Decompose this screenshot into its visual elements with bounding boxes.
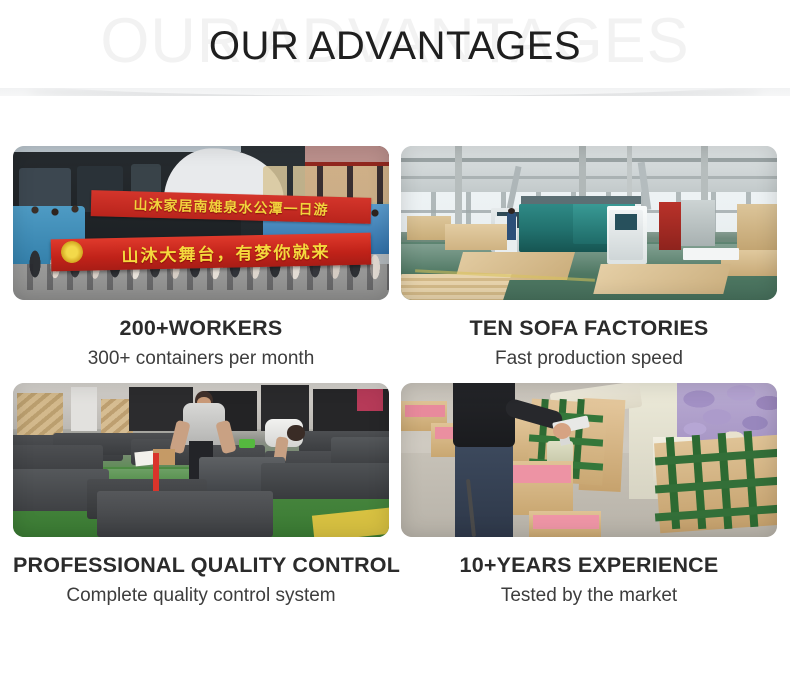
banner-top-text: 山沐家居南雄泉水公潭一日游	[133, 194, 328, 219]
group-photo-staff-outing: 山沐家居南雄泉水公潭一日游 山沐大舞台，有梦你就来	[13, 146, 389, 300]
sofa-frame-webbing-assembly	[401, 383, 777, 537]
card-subtitle: 300+ containers per month	[13, 345, 389, 373]
banner-bottom-text: 山沐大舞台，有梦你就来	[91, 237, 330, 267]
card-title: PROFESSIONAL QUALITY CONTROL	[13, 551, 389, 579]
banner-bottom: 山沐大舞台，有梦你就来	[51, 233, 372, 272]
advantage-card-factories[interactable]: TEN SOFA FACTORIES Fast production speed	[401, 146, 777, 373]
card-subtitle: Fast production speed	[401, 345, 777, 373]
card-title: 200+WORKERS	[13, 314, 389, 342]
advantage-card-workers[interactable]: 山沐家居南雄泉水公潭一日游 山沐大舞台，有梦你就来 200+WORKERS 30…	[13, 146, 389, 373]
advantage-card-experience[interactable]: 10+YEARS EXPERIENCE Tested by the market	[401, 383, 777, 610]
card-subtitle: Complete quality control system	[13, 582, 389, 610]
header-divider	[0, 88, 790, 96]
woodworking-factory-cnc-line	[401, 146, 777, 300]
card-caption: PROFESSIONAL QUALITY CONTROL Complete qu…	[13, 537, 389, 610]
sofa-inspection-workshop	[13, 383, 389, 537]
page-header: OUR ADVANTAGES OUR ADVANTAGES	[0, 0, 790, 96]
page-title: OUR ADVANTAGES	[0, 22, 790, 70]
card-title: 10+YEARS EXPERIENCE	[401, 551, 777, 579]
card-subtitle: Tested by the market	[401, 582, 777, 610]
card-caption: TEN SOFA FACTORIES Fast production speed	[401, 300, 777, 373]
card-title: TEN SOFA FACTORIES	[401, 314, 777, 342]
advantage-card-quality-control[interactable]: PROFESSIONAL QUALITY CONTROL Complete qu…	[13, 383, 389, 610]
card-caption: 10+YEARS EXPERIENCE Tested by the market	[401, 537, 777, 610]
advantages-grid: 山沐家居南雄泉水公潭一日游 山沐大舞台，有梦你就来 200+WORKERS 30…	[13, 146, 777, 610]
card-caption: 200+WORKERS 300+ containers per month	[13, 300, 389, 373]
